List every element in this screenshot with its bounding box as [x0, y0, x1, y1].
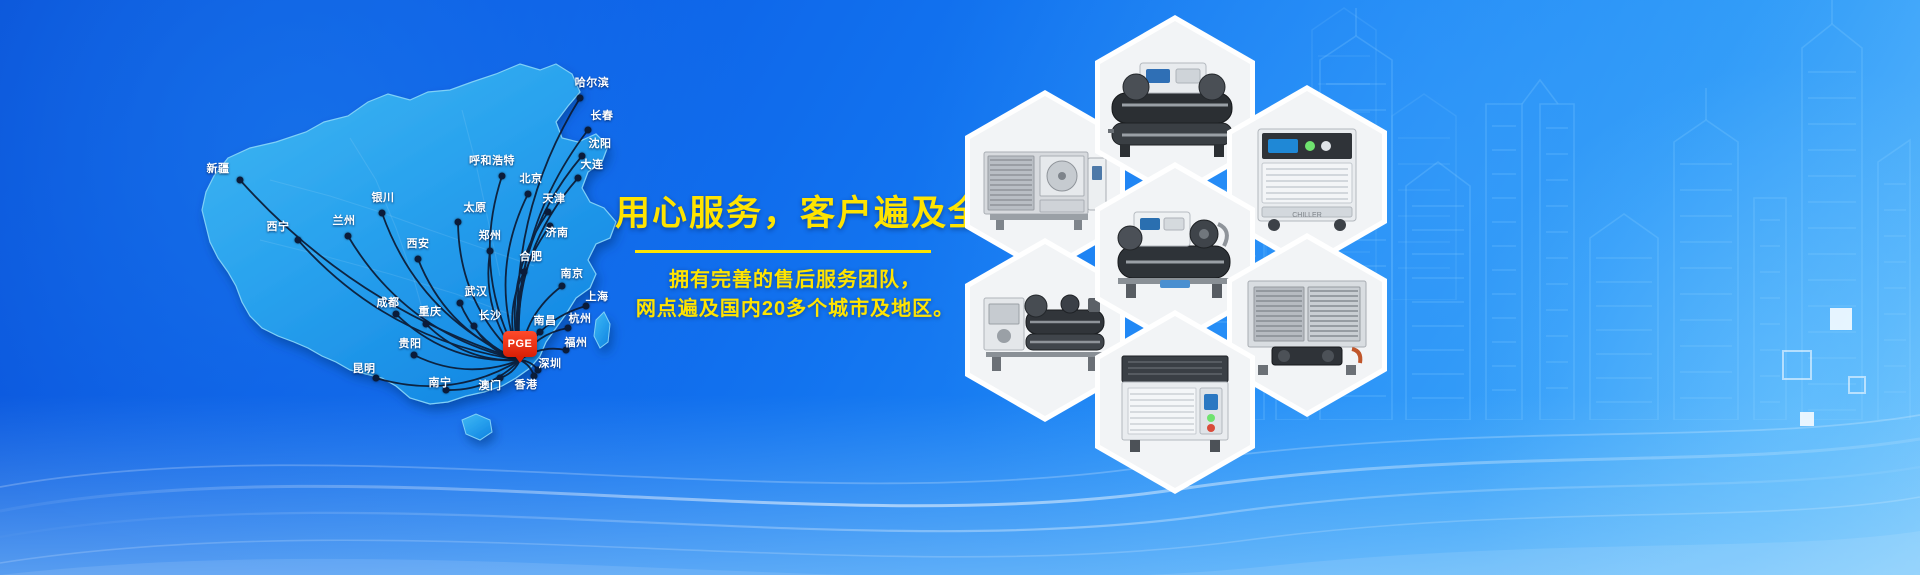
city-dot[interactable] — [521, 269, 528, 276]
city-dot[interactable] — [559, 283, 566, 290]
city-dot[interactable] — [379, 210, 386, 217]
decorative-square-4 — [1800, 412, 1814, 426]
banner-headline: 用心服务，客户遍及全国 — [615, 195, 975, 234]
promotional-banner: 新疆哈尔滨长春沈阳呼和浩特北京大连天津银川兰州太原西宁西安郑州济南合肥南京上海杭… — [0, 0, 1920, 575]
banner-subtitle-line-1: 拥有完善的售后服务团队， — [615, 266, 975, 295]
city-dot[interactable] — [497, 375, 504, 382]
city-dot[interactable] — [345, 233, 352, 240]
city-dot[interactable] — [423, 321, 430, 328]
decorative-square-3 — [1848, 376, 1866, 394]
decorative-square-1 — [1830, 308, 1852, 330]
city-dot[interactable] — [487, 248, 494, 255]
city-dot[interactable] — [563, 347, 570, 354]
city-dot[interactable] — [237, 177, 244, 184]
city-dot[interactable] — [471, 323, 478, 330]
hub-location-badge[interactable]: PGE — [503, 331, 537, 357]
city-dot[interactable] — [577, 95, 584, 102]
headline-divider — [635, 250, 931, 253]
city-dot[interactable] — [457, 300, 464, 307]
city-dot[interactable] — [537, 329, 544, 336]
city-dot[interactable] — [525, 191, 532, 198]
city-dot[interactable] — [565, 325, 572, 332]
city-dot[interactable] — [583, 303, 590, 310]
map-graphic — [110, 30, 640, 450]
city-dot[interactable] — [575, 175, 582, 182]
city-dot[interactable] — [499, 173, 506, 180]
banner-subtitle-line-2: 网点遍及国内20多个城市及地区。 — [615, 295, 975, 324]
city-dot[interactable] — [545, 209, 552, 216]
svg-text:CHILLER: CHILLER — [1292, 212, 1322, 219]
city-dot[interactable] — [579, 153, 586, 160]
china-service-network-map: 新疆哈尔滨长春沈阳呼和浩特北京大连天津银川兰州太原西宁西安郑州济南合肥南京上海杭… — [110, 30, 640, 450]
decorative-square-2 — [1782, 350, 1812, 380]
city-dot[interactable] — [443, 387, 450, 394]
product-image-box-type-water-chiller — [1100, 316, 1250, 488]
banner-text-block: 用心服务，客户遍及全国 拥有完善的售后服务团队， 网点遍及国内20多个城市及地区… — [615, 195, 975, 324]
city-dot[interactable] — [547, 223, 554, 230]
city-dot[interactable] — [585, 127, 592, 134]
product-hexagon-gallery: CHILLER — [955, 0, 1515, 575]
city-dot[interactable] — [295, 237, 302, 244]
city-dot[interactable] — [531, 373, 538, 380]
city-dot[interactable] — [411, 352, 418, 359]
city-dot[interactable] — [373, 375, 380, 382]
city-dot[interactable] — [415, 256, 422, 263]
city-dot[interactable] — [455, 219, 462, 226]
city-dot[interactable] — [393, 311, 400, 318]
